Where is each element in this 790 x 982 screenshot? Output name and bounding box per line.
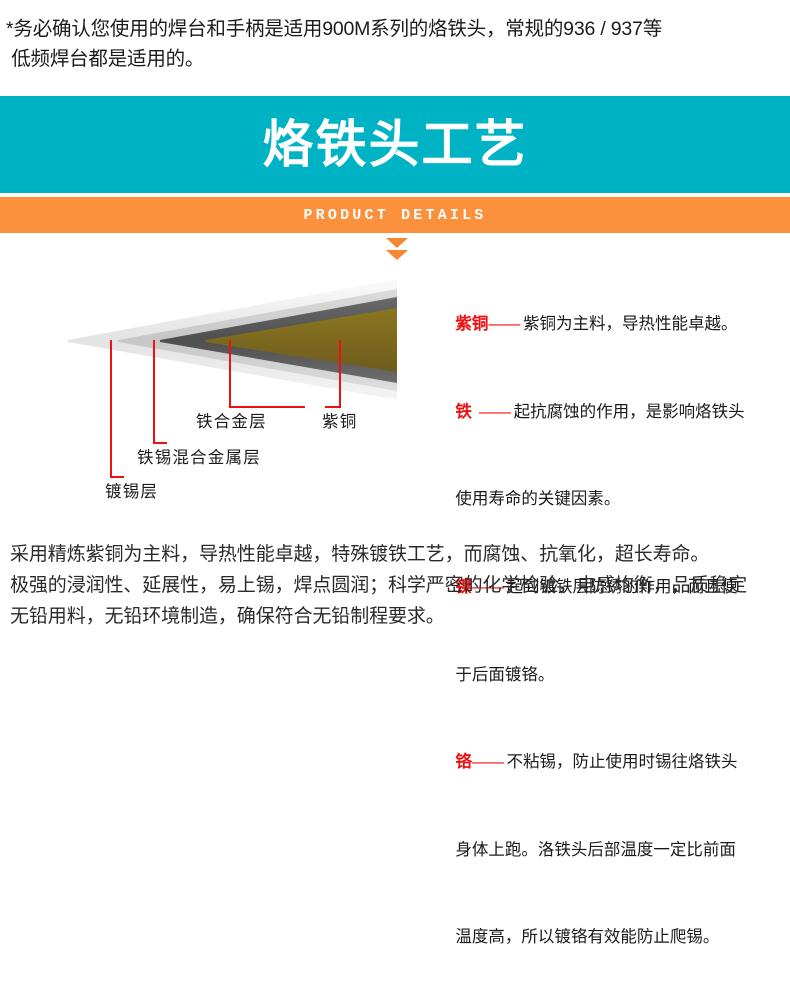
annotation-text-iron-2: 使用寿命的关键因素。: [455, 490, 620, 508]
annotation-text-chrome-2: 身体上跑。洛铁头后部温度一定比前面: [455, 841, 736, 859]
chevron-down-icon-top: [386, 238, 408, 248]
double-chevron-down-icon: [386, 238, 408, 264]
annotation-text-nickel-2: 于后面镀铬。: [455, 666, 554, 684]
annotation-text-copper-1: 紫铜为主料，导热性能卓越。: [523, 315, 738, 333]
annotation-item-chrome: 铬—— 不粘锡，防止使用时锡往烙铁头: [437, 719, 787, 807]
annotation-text-chrome-3: 温度高，所以镀铬有效能防止爬锡。: [455, 928, 719, 946]
wedge-illustration: [0, 264, 397, 409]
leader-tick-copper: [325, 406, 339, 408]
section-banner: 烙铁头工艺: [0, 96, 790, 193]
leader-tick-iron: [229, 406, 305, 408]
annotation-text-iron-1: 起抗腐蚀的作用，是影响烙铁头: [514, 403, 745, 421]
leader-line-copper: [339, 340, 341, 408]
leader-tick-mix: [153, 442, 167, 444]
annotation-text-chrome-1: 不粘锡，防止使用时锡往烙铁头: [506, 753, 737, 771]
annotation-item-iron-cont: 使用寿命的关键因素。: [437, 456, 787, 544]
leader-line-tin: [110, 340, 112, 478]
product-details-label: PRODUCT DETAILS: [0, 197, 790, 233]
product-details-bar: PRODUCT DETAILS: [0, 197, 790, 233]
material-name-copper: 紫铜: [455, 315, 488, 333]
callout-label-tin: 镀锡层: [105, 484, 158, 501]
leader-line-iron: [229, 340, 231, 408]
annotation-item-copper: 紫铜—— 紫铜为主料，导热性能卓越。: [437, 281, 787, 369]
annotation-dash-chrome: ——: [472, 753, 507, 771]
chevron-down-icon-bottom: [386, 250, 408, 260]
annotation-item-nickel-cont: 于后面镀铬。: [437, 631, 787, 719]
annotation-item-iron: 铁 —— 起抗腐蚀的作用，是影响烙铁头: [437, 369, 787, 457]
callout-label-mix: 铁锡混合金属层: [137, 450, 261, 467]
product-description-paragraph: 采用精炼紫铜为主料，导热性能卓越，特殊镀铁工艺，而腐蚀、抗氧化，超长寿命。 极强…: [0, 539, 790, 632]
callout-label-copper: 紫铜: [322, 414, 357, 431]
leader-tick-tin: [110, 476, 124, 478]
material-name-chrome: 铬: [455, 753, 472, 771]
callout-label-iron: 铁合金层: [196, 414, 267, 431]
banner-title: 烙铁头工艺: [0, 96, 790, 193]
annotation-dash-copper: ——: [488, 315, 523, 333]
annotation-item-chrome-cont2: 温度高，所以镀铬有效能防止爬锡。: [437, 894, 787, 982]
compatibility-notice: *务必确认您使用的焊台和手柄是适用900M系列的烙铁头，常规的936 / 937…: [0, 0, 790, 74]
leader-line-mix: [153, 340, 155, 444]
material-name-iron: 铁: [455, 403, 472, 421]
annotation-dash-iron: ——: [472, 403, 514, 421]
annotation-item-chrome-cont1: 身体上跑。洛铁头后部温度一定比前面: [437, 807, 787, 895]
